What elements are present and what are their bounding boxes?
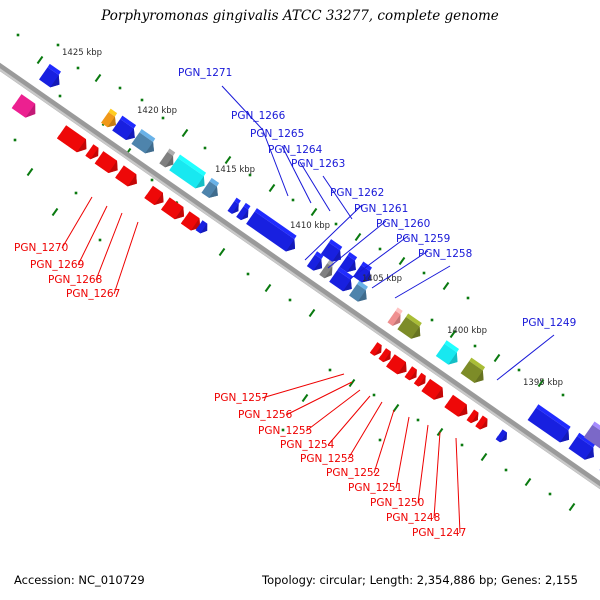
trna-dot — [57, 44, 60, 47]
trna-dot — [77, 67, 80, 70]
trna-dot — [151, 179, 154, 182]
canvas-background — [0, 0, 600, 600]
scale-tick-label: 1415 kbp — [215, 165, 255, 175]
trna-dot — [417, 419, 420, 422]
trna-dot — [373, 394, 376, 397]
gene-label[interactable]: PGN_1262 — [330, 187, 384, 199]
trna-dot — [292, 199, 295, 202]
genome-map-canvas[interactable]: Porphyromonas gingivalis ATCC 33277, com… — [0, 0, 600, 600]
gene-label[interactable]: PGN_1260 — [376, 218, 430, 230]
gene-label[interactable]: PGN_1257 — [214, 392, 268, 404]
trna-dot — [204, 147, 207, 150]
gene-label[interactable]: PGN_1261 — [354, 203, 408, 215]
trna-dot — [289, 299, 292, 302]
trna-dot — [423, 272, 426, 275]
trna-dot — [431, 319, 434, 322]
trna-dot — [474, 345, 477, 348]
gene-label[interactable]: PGN_1265 — [250, 128, 304, 140]
scale-tick-label: 1410 kbp — [290, 221, 330, 231]
gene-label[interactable]: PGN_1258 — [418, 248, 472, 260]
trna-dot — [518, 369, 521, 372]
trna-dot — [379, 439, 382, 442]
scale-tick-label: 1395 kbp — [523, 378, 563, 388]
gene-label[interactable]: PGN_1269 — [30, 259, 84, 271]
gene-label[interactable]: PGN_1259 — [396, 233, 450, 245]
trna-dot — [17, 34, 20, 37]
trna-dot — [562, 394, 565, 397]
trna-dot — [99, 239, 102, 242]
trna-dot — [467, 297, 470, 300]
trna-dot — [14, 139, 17, 142]
gene-label[interactable]: PGN_1252 — [326, 467, 380, 479]
gene-label[interactable]: PGN_1250 — [370, 497, 424, 509]
gene-label[interactable]: PGN_1249 — [522, 317, 576, 329]
trna-dot — [162, 117, 165, 120]
trna-dot — [75, 192, 78, 195]
trna-dot — [329, 369, 332, 372]
trna-dot — [141, 99, 144, 102]
scale-tick-label: 1405 kbp — [362, 274, 402, 284]
trna-dot — [549, 493, 552, 496]
trna-dot — [461, 444, 464, 447]
gene-label[interactable]: PGN_1266 — [231, 110, 286, 122]
gene-label[interactable]: PGN_1253 — [300, 453, 354, 465]
genome-viewer: Porphyromonas gingivalis ATCC 33277, com… — [0, 0, 600, 600]
gene-label[interactable]: PGN_1264 — [268, 144, 323, 156]
trna-dot — [379, 248, 382, 251]
trna-dot — [335, 223, 338, 226]
scale-tick-label: 1420 kbp — [137, 106, 177, 116]
scale-tick-label: 1425 kbp — [62, 48, 102, 58]
scale-tick-label: 1400 kbp — [447, 326, 487, 336]
trna-dot — [59, 95, 62, 98]
gene-label[interactable]: PGN_1268 — [48, 274, 102, 286]
gene-label[interactable]: PGN_1263 — [291, 158, 345, 170]
trna-dot — [505, 469, 508, 472]
genome-summary-text: Topology: circular; Length: 2,354,886 bp… — [261, 573, 578, 587]
gene-label[interactable]: PGN_1270 — [14, 242, 68, 254]
gene-label[interactable]: PGN_1247 — [412, 527, 466, 539]
accession-text: Accession: NC_010729 — [14, 573, 145, 587]
gene-label[interactable]: PGN_1256 — [238, 409, 293, 421]
trna-dot — [119, 87, 122, 90]
gene-label[interactable]: PGN_1271 — [178, 67, 232, 79]
gene-label[interactable]: PGN_1267 — [66, 288, 120, 300]
gene-label[interactable]: PGN_1254 — [280, 439, 335, 451]
gene-label[interactable]: PGN_1251 — [348, 482, 402, 494]
gene-label[interactable]: PGN_1248 — [386, 512, 440, 524]
trna-dot — [247, 273, 250, 276]
gene-label[interactable]: PGN_1255 — [258, 425, 312, 437]
page-title: Porphyromonas gingivalis ATCC 33277, com… — [100, 8, 499, 24]
